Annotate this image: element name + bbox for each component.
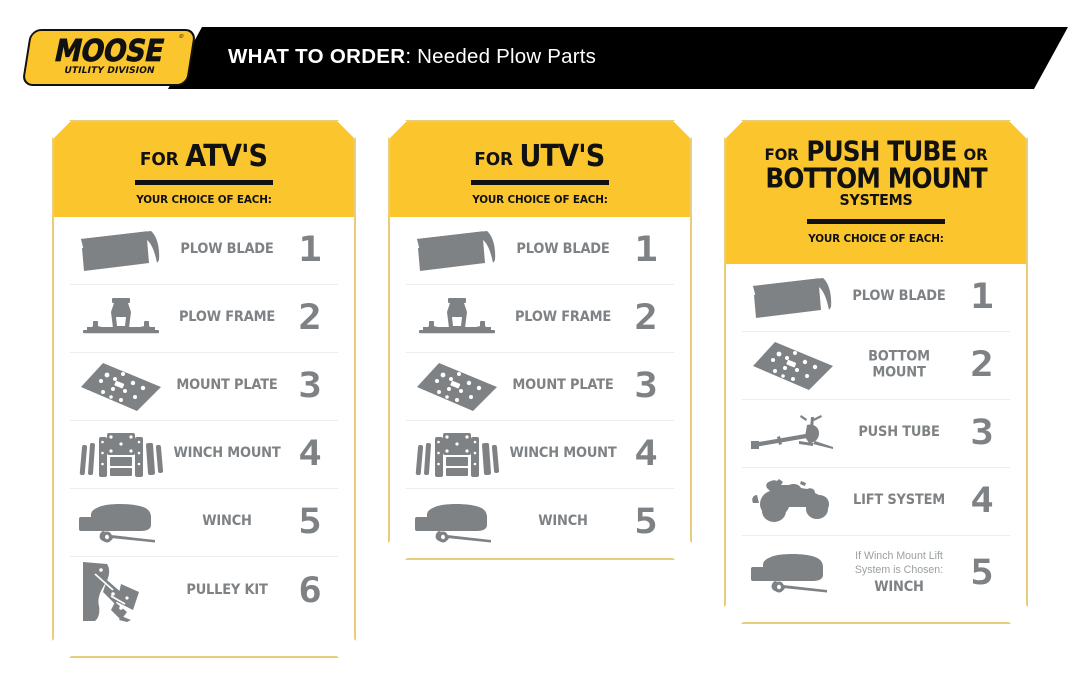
list-item-number: 3 [279,369,342,404]
card-push-tube: FOR PUSH TUBE OR BOTTOM MOUNT SYSTEMS YO… [724,120,1028,624]
list-item-number: 5 [615,505,678,540]
card-utv-header: FOR UTV'S YOUR CHOICE OF EACH: [390,122,690,217]
list-item[interactable]: PLOW BLADE 1 [742,264,1010,331]
card-push-tube-inner: FOR PUSH TUBE OR BOTTOM MOUNT SYSTEMS YO… [725,121,1027,623]
list-item-number: 3 [615,369,678,404]
list-item[interactable]: PLOW FRAME 2 [70,284,338,352]
list-item[interactable]: PLOW BLADE 1 [70,217,338,284]
plow-blade-icon [742,277,844,319]
list-item[interactable]: MOUNT PLATE 3 [406,352,674,420]
list-item-label: MOUNT PLATE [172,379,282,395]
list-item-number: 4 [279,437,342,472]
card-atv-rule [135,180,273,185]
page-title: WHAT TO ORDER: Needed Plow Parts [228,45,596,69]
list-item-number: 4 [615,437,678,472]
list-item-note: If Winch Mount Lift System is Chosen: [844,549,954,577]
list-item-label: BOTTOM MOUNT [844,350,954,382]
card-push-tube-title-prefix: FOR [765,148,799,164]
list-item-label: PULLEY KIT [172,583,282,599]
card-push-tube-header: FOR PUSH TUBE OR BOTTOM MOUNT SYSTEMS YO… [726,122,1026,264]
list-item[interactable]: WINCH MOUNT 4 [70,420,338,488]
card-utv-inner: FOR UTV'S YOUR CHOICE OF EACH: PLOW BLAD… [389,121,691,559]
list-item[interactable]: PLOW FRAME 2 [406,284,674,352]
list-item-label: LIFT SYSTEM [844,494,954,510]
list-item[interactable]: PUSH TUBE 3 [742,399,1010,467]
list-item-number: 6 [279,574,342,609]
list-item[interactable]: BOTTOM MOUNT 2 [742,331,1010,399]
atv-icon [742,477,844,527]
card-push-tube-subtitle: YOUR CHOICE OF EACH: [726,233,1026,245]
card-atv-title-main: ATV'S [185,140,267,171]
list-item-number: 3 [951,416,1014,451]
list-item-label: PLOW BLADE [508,243,618,259]
list-item-label: PLOW BLADE [172,243,282,259]
list-item[interactable]: PLOW BLADE 1 [406,217,674,284]
list-item-number: 1 [279,233,342,268]
list-item[interactable]: LIFT SYSTEM 4 [742,467,1010,535]
card-push-tube-title-line2: BOTTOM MOUNT [726,166,1026,193]
card-utv-title-main: UTV'S [519,140,604,171]
list-item-label: WINCH [874,580,923,596]
list-item[interactable]: If Winch Mount Lift System is Chosen: WI… [742,535,1010,610]
plow-frame-icon [70,296,172,342]
card-utv: FOR UTV'S YOUR CHOICE OF EACH: PLOW BLAD… [388,120,692,560]
logo-subtitle: UTILITY DIVISION [63,67,155,76]
list-item-label: WINCH [508,515,618,531]
card-utv-list: PLOW BLADE 1 PLOW FRAME 2 MOUNT PLATE 3 [390,217,690,556]
card-atv: FOR ATV'S YOUR CHOICE OF EACH: PLOW BLAD… [52,120,356,658]
page-header: MOOSE UTILITY DIVISION ® WHAT TO ORDER: … [0,0,1080,98]
card-push-tube-title-or: OR [964,148,988,164]
card-utv-subtitle: YOUR CHOICE OF EACH: [390,194,690,206]
card-push-tube-title-line1: FOR PUSH TUBE OR [726,139,1026,166]
push-tube-icon [742,413,844,455]
winch-icon [742,551,844,595]
card-push-tube-title-systems: SYSTEMS [726,193,1026,210]
list-item-number: 5 [279,505,342,540]
mount-plate-icon [742,340,844,392]
card-atv-inner: FOR ATV'S YOUR CHOICE OF EACH: PLOW BLAD… [53,121,355,657]
list-item-label-group: If Winch Mount Lift System is Chosen: WI… [844,549,954,596]
list-item-label: PUSH TUBE [844,426,954,442]
list-item-label: PLOW FRAME [172,311,282,327]
winch-icon [406,501,508,545]
page-title-strong: WHAT TO ORDER [228,45,405,68]
list-item-number: 2 [615,301,678,336]
card-atv-title-prefix: FOR [140,152,179,171]
plow-blade-icon [406,230,508,272]
mount-plate-icon [70,361,172,413]
list-item-number: 2 [279,301,342,336]
card-utv-title-prefix: FOR [474,152,513,171]
list-item-label: PLOW FRAME [508,311,618,327]
list-item[interactable]: WINCH MOUNT 4 [406,420,674,488]
list-item-number: 5 [951,556,1014,591]
list-item-label: WINCH MOUNT [508,447,618,463]
mount-plate-icon [406,361,508,413]
card-atv-list: PLOW BLADE 1 PLOW FRAME 2 MOUNT PLATE 3 [54,217,354,625]
list-item-label: WINCH [172,515,282,531]
card-atv-title: FOR ATV'S [54,141,354,170]
list-item-number: 1 [951,280,1014,315]
winch-mount-icon [406,429,508,481]
card-push-tube-rule [807,219,945,224]
logo-wordmark: MOOSE [52,37,167,67]
card-utv-rule [471,180,609,185]
card-atv-header: FOR ATV'S YOUR CHOICE OF EACH: [54,122,354,217]
card-atv-subtitle: YOUR CHOICE OF EACH: [54,194,354,206]
winch-mount-icon [70,429,172,481]
moose-utility-division-logo: MOOSE UTILITY DIVISION ® [26,29,192,86]
list-item-number: 1 [615,233,678,268]
plow-frame-icon [406,296,508,342]
list-item-label: PLOW BLADE [844,290,954,306]
winch-icon [70,501,172,545]
list-item[interactable]: WINCH 5 [406,488,674,556]
page-title-light: : Needed Plow Parts [405,45,596,68]
list-item-label: MOUNT PLATE [508,379,618,395]
card-utv-title: FOR UTV'S [390,141,690,170]
list-item-number: 4 [951,484,1014,519]
list-item[interactable]: MOUNT PLATE 3 [70,352,338,420]
registered-trademark-icon: ® [178,34,183,40]
card-push-tube-title-main2: BOTTOM MOUNT [765,164,986,193]
pulley-kit-icon [70,560,172,622]
list-item[interactable]: WINCH 5 [70,488,338,556]
card-push-tube-list: PLOW BLADE 1 BOTTOM MOUNT 2 PUSH TUBE 3 [726,264,1026,610]
plow-blade-icon [70,230,172,272]
list-item-number: 2 [951,348,1014,383]
list-item-label: WINCH MOUNT [172,447,282,463]
list-item[interactable]: PULLEY KIT 6 [70,556,338,625]
